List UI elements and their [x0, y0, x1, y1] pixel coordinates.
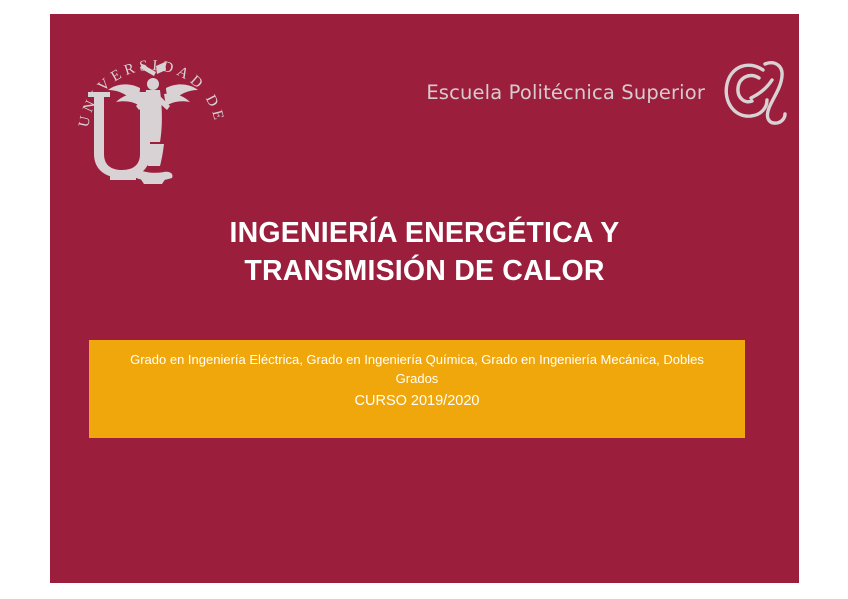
slide-header: UNIVERSIDAD DE SEVILLA	[50, 14, 799, 199]
eps-monogram-icon	[719, 54, 791, 132]
subtitle-panel: Grado en Ingeniería Eléctrica, Grado en …	[89, 340, 745, 438]
academic-year: CURSO 2019/2020	[111, 388, 723, 414]
page-title-line-2: TRANSMISIÓN DE CALOR	[50, 252, 799, 290]
escuela-politecnica-superior-logo: Escuela Politécnica Superior	[426, 54, 791, 132]
school-wordmark: Escuela Politécnica Superior	[426, 83, 705, 103]
title-slide: UNIVERSIDAD DE SEVILLA	[50, 14, 799, 583]
universidad-de-sevilla-seal-icon: UNIVERSIDAD DE SEVILLA	[70, 26, 230, 191]
page-title: INGENIERÍA ENERGÉTICA Y TRANSMISIÓN DE C…	[50, 214, 799, 290]
degree-list: Grado en Ingeniería Eléctrica, Grado en …	[111, 350, 723, 388]
page-title-line-1: INGENIERÍA ENERGÉTICA Y	[50, 214, 799, 252]
